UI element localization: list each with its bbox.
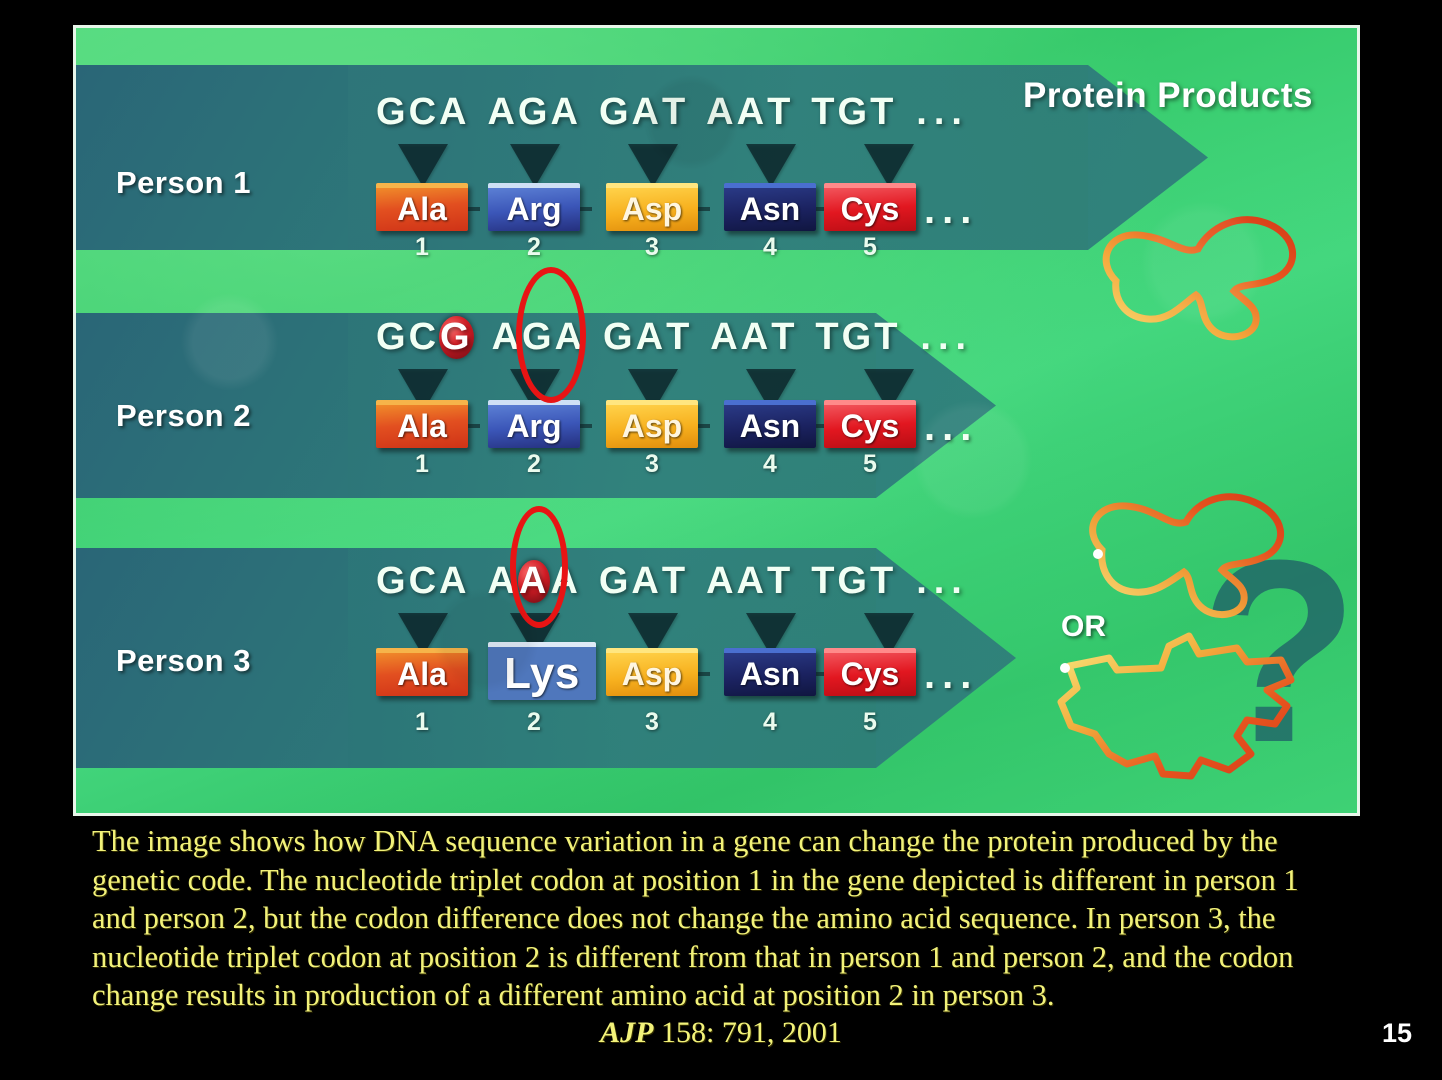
nucleotide: T: [767, 560, 793, 603]
nucleotide: T: [771, 316, 797, 359]
protein-chain-ellipsis: ...: [924, 653, 978, 698]
amino-acid-position-number: 2: [488, 233, 580, 262]
codon-to-aminoacid-arrow-icon: [398, 144, 448, 187]
codon-to-aminoacid-arrow-icon: [746, 144, 796, 187]
row-band-left: [76, 65, 348, 250]
codon-to-aminoacid-arrow-icon: [510, 144, 560, 187]
nucleotide: T: [874, 316, 900, 359]
nucleotide: A: [439, 91, 469, 134]
mutation-highlight-ellipse-person3: [510, 506, 568, 628]
codon-sequence: GCGAGAGATAATTGT...: [376, 316, 973, 359]
nucleotide: G: [599, 91, 632, 134]
nucleotide: G: [838, 91, 871, 134]
codon: GCA: [376, 560, 469, 603]
nucleotide: T: [815, 316, 841, 359]
amino-acid-position-number: 1: [376, 450, 468, 479]
amino-acid-position-number: 2: [488, 450, 580, 479]
amino-acid-chip[interactable]: Asp: [606, 400, 698, 448]
codon: AAT: [706, 560, 793, 603]
nucleotide: C: [409, 316, 439, 359]
peptide-bond-connector: [468, 207, 480, 211]
amino-acid-position-number: 5: [824, 233, 916, 262]
person-label: Person 1: [116, 165, 251, 201]
nucleotide: A: [710, 316, 740, 359]
protein-products-title: Protein Products: [1023, 76, 1313, 116]
codon-to-aminoacid-arrow-icon: [628, 144, 678, 187]
figure-image: Person 1 Person 2 Person 3 GCAAGAGATAATT…: [73, 25, 1360, 816]
amino-acid-chip[interactable]: Ala: [376, 183, 468, 231]
peptide-bond-connector: [580, 207, 592, 211]
nucleotide: G: [376, 316, 409, 359]
amino-acid-position-number: 3: [606, 708, 698, 737]
codon: TGT: [811, 560, 896, 603]
amino-acid-chip[interactable]: Asn: [724, 648, 816, 696]
page-number: 15: [1382, 1018, 1412, 1049]
protein-chain-ellipsis: ...: [924, 188, 978, 233]
nucleotide: A: [487, 91, 517, 134]
amino-acid-position-number: 2: [488, 708, 580, 737]
nucleotide: A: [632, 91, 662, 134]
codon: GAT: [599, 560, 688, 603]
nucleotide: T: [662, 91, 688, 134]
nucleotide: G: [842, 316, 875, 359]
protein-chain-ellipsis: ...: [924, 405, 978, 450]
amino-acid-chip[interactable]: Asp: [606, 183, 698, 231]
codon-sequence: GCAAGAGATAATTGT...: [376, 91, 969, 134]
nucleotide: C: [409, 91, 439, 134]
nucleotide: T: [811, 91, 837, 134]
amino-acid-chip[interactable]: Arg: [488, 400, 580, 448]
codon: AAT: [706, 91, 793, 134]
codon: GCA: [376, 91, 469, 134]
amino-acid-position-number: 5: [824, 450, 916, 479]
amino-acid-chip[interactable]: Lys: [488, 642, 596, 700]
mutated-nucleotide: G: [439, 316, 474, 359]
protein-ribbon-icon: [1076, 488, 1306, 623]
amino-acid-position-number: 5: [824, 708, 916, 737]
nucleotide: A: [741, 316, 771, 359]
nucleotide: A: [439, 560, 469, 603]
nucleotide: A: [706, 560, 736, 603]
nucleotide: G: [376, 560, 409, 603]
nucleotide: A: [550, 91, 580, 134]
nucleotide: A: [636, 316, 666, 359]
peptide-bond-connector: [698, 424, 710, 428]
codon-to-aminoacid-arrow-icon: [864, 144, 914, 187]
codon: TGT: [811, 91, 896, 134]
sequence-ellipsis: ...: [916, 91, 969, 134]
peptide-bond-connector: [580, 424, 592, 428]
amino-acid-position-number: 3: [606, 233, 698, 262]
nucleotide: A: [706, 91, 736, 134]
codon: AAT: [710, 316, 797, 359]
codon: TGT: [815, 316, 900, 359]
person-label: Person 2: [116, 398, 251, 434]
protein-ribbon-icon: [1051, 628, 1301, 783]
nucleotide: G: [376, 91, 409, 134]
amino-acid-position-number: 4: [724, 233, 816, 262]
amino-acid-chip[interactable]: Ala: [376, 400, 468, 448]
nucleotide: G: [599, 560, 632, 603]
amino-acid-position-number: 1: [376, 233, 468, 262]
nucleotide: G: [837, 560, 870, 603]
sequence-ellipsis: ...: [920, 316, 973, 359]
nucleotide: G: [518, 91, 551, 134]
codon-sequence: GCAAAAGATAATTGT...: [376, 560, 969, 603]
nucleotide: T: [666, 316, 692, 359]
codon: GCG: [376, 316, 474, 359]
sequence-ellipsis: ...: [916, 560, 969, 603]
peptide-bond-connector: [698, 207, 710, 211]
amino-acid-position-number: 1: [376, 708, 468, 737]
citation-reference: 158: 791, 2001: [661, 1016, 842, 1049]
protein-ribbon-icon: [1086, 203, 1326, 343]
figure-caption: The image shows how DNA sequence variati…: [92, 822, 1332, 1015]
amino-acid-chip[interactable]: Ala: [376, 648, 468, 696]
person-label: Person 3: [116, 643, 251, 679]
nucleotide: T: [870, 560, 896, 603]
nucleotide: A: [737, 91, 767, 134]
nucleotide: T: [662, 560, 688, 603]
peptide-bond-connector: [698, 672, 710, 676]
nucleotide: A: [631, 560, 661, 603]
codon: GAT: [603, 316, 692, 359]
nucleotide: A: [737, 560, 767, 603]
amino-acid-position-number: 4: [724, 708, 816, 737]
nucleotide: T: [870, 91, 896, 134]
amino-acid-chip[interactable]: Asn: [724, 400, 816, 448]
amino-acid-chip[interactable]: Cys: [824, 648, 916, 696]
codon: AGA: [487, 91, 580, 134]
amino-acid-chip[interactable]: Cys: [824, 183, 916, 231]
citation-journal: AJP: [600, 1016, 653, 1049]
nucleotide: T: [811, 560, 837, 603]
mutation-highlight-ellipse-person2: [516, 267, 586, 403]
citation: AJP 158: 791, 2001: [0, 1016, 1442, 1050]
nucleotide: T: [767, 91, 793, 134]
amino-acid-position-number: 4: [724, 450, 816, 479]
nucleotide: C: [409, 560, 439, 603]
amino-acid-chip[interactable]: Arg: [488, 183, 580, 231]
amino-acid-chip[interactable]: Cys: [824, 400, 916, 448]
codon: GAT: [599, 91, 688, 134]
amino-acid-chip[interactable]: Asp: [606, 648, 698, 696]
peptide-bond-connector: [468, 424, 480, 428]
amino-acid-chip[interactable]: Asn: [724, 183, 816, 231]
nucleotide: G: [603, 316, 636, 359]
amino-acid-position-number: 3: [606, 450, 698, 479]
